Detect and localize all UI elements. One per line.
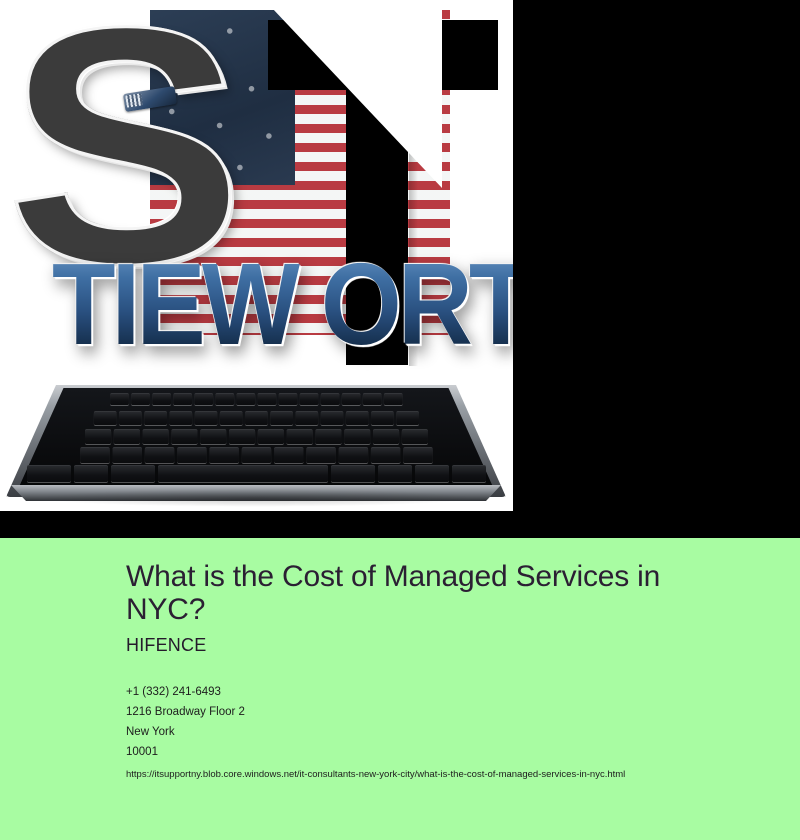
contact-street: 1216 Broadway Floor 2 xyxy=(126,702,766,722)
keyboard-row xyxy=(61,393,451,407)
key xyxy=(274,447,303,463)
spacebar-key xyxy=(158,465,328,482)
contact-phone: +1 (332) 241-6493 xyxy=(126,682,766,702)
key xyxy=(299,393,318,405)
key xyxy=(320,393,339,405)
key xyxy=(331,465,375,482)
key xyxy=(200,429,226,444)
key xyxy=(111,465,155,482)
key xyxy=(209,447,238,463)
keyboard-row xyxy=(19,447,494,461)
key xyxy=(315,429,341,444)
key xyxy=(371,411,394,425)
key xyxy=(85,429,111,444)
key xyxy=(415,465,449,482)
key xyxy=(373,429,399,444)
key xyxy=(286,429,312,444)
keyboard-row xyxy=(6,465,506,479)
hero-artwork-canvas: S TIEW ORT xyxy=(0,0,513,511)
info-content: What is the Cost of Managed Services in … xyxy=(126,560,766,782)
letter-s-glyph: S xyxy=(6,18,298,273)
key xyxy=(396,411,419,425)
page-root: S TIEW ORT xyxy=(0,0,800,840)
key xyxy=(236,393,255,405)
key xyxy=(384,393,403,405)
keyboard-row xyxy=(31,429,481,443)
key xyxy=(295,411,318,425)
key xyxy=(74,465,108,482)
key xyxy=(401,429,427,444)
contact-zip: 10001 xyxy=(126,742,766,762)
key xyxy=(131,393,150,405)
key xyxy=(245,411,268,425)
key xyxy=(171,429,197,444)
key xyxy=(344,429,370,444)
hero-image-block: S TIEW ORT xyxy=(0,0,513,511)
blue-word-graphic: TIEW ORT xyxy=(52,243,513,366)
key xyxy=(403,447,432,463)
key xyxy=(362,393,381,405)
key xyxy=(119,411,142,425)
key xyxy=(27,465,71,482)
page-title: What is the Cost of Managed Services in … xyxy=(126,560,731,626)
key xyxy=(144,411,167,425)
key xyxy=(215,393,234,405)
key xyxy=(338,447,367,463)
key xyxy=(169,411,192,425)
source-url-text[interactable]: https://itsupportny.blob.core.windows.ne… xyxy=(126,768,766,782)
key xyxy=(194,393,213,405)
key xyxy=(110,393,129,405)
key xyxy=(229,429,255,444)
contact-details-list: +1 (332) 241-6493 1216 Broadway Floor 2 … xyxy=(126,682,766,762)
key xyxy=(219,411,242,425)
key xyxy=(173,393,192,405)
key xyxy=(241,447,270,463)
key xyxy=(270,411,293,425)
keyboard-shadow xyxy=(36,489,476,507)
key xyxy=(452,465,486,482)
key xyxy=(152,393,171,405)
key xyxy=(194,411,217,425)
key xyxy=(144,447,173,463)
key xyxy=(378,465,412,482)
key xyxy=(113,429,139,444)
key xyxy=(370,447,399,463)
letter-s-graphic: S xyxy=(6,18,276,273)
key xyxy=(320,411,343,425)
keyboard-row xyxy=(46,411,466,425)
key xyxy=(112,447,141,463)
laptop-keyboard-graphic xyxy=(6,385,506,503)
key xyxy=(278,393,297,405)
key xyxy=(93,411,116,425)
key xyxy=(341,393,360,405)
key xyxy=(80,447,109,463)
key xyxy=(257,429,283,444)
contact-city: New York xyxy=(126,722,766,742)
key xyxy=(345,411,368,425)
key xyxy=(257,393,276,405)
key xyxy=(306,447,335,463)
info-band: What is the Cost of Managed Services in … xyxy=(0,538,800,840)
key xyxy=(142,429,168,444)
brand-name: HIFENCE xyxy=(126,634,766,656)
key xyxy=(177,447,206,463)
